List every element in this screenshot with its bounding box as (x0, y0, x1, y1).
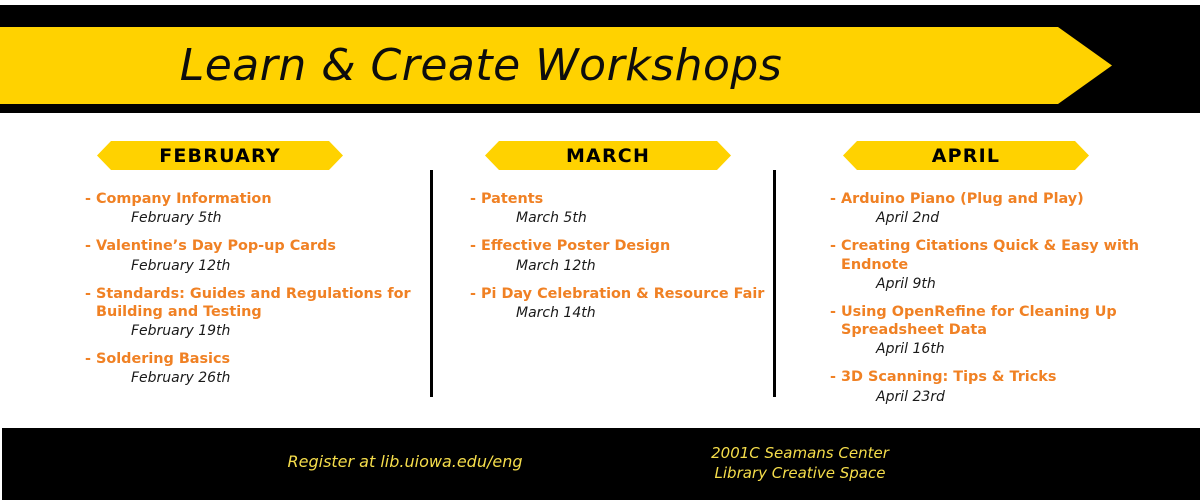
event-date: April 2nd (830, 210, 1140, 226)
event-date: March 14th (470, 305, 780, 321)
event-list-march: - Patents March 5th - Effective Poster D… (440, 190, 780, 321)
event-title: - Patents (470, 190, 780, 208)
list-item: - Standards: Guides and Regulations for … (85, 285, 415, 340)
page-title: Learn & Create Workshops (180, 40, 933, 91)
list-item: - Valentine’s Day Pop-up Cards February … (85, 237, 415, 273)
list-item: - Company Information February 5th (85, 190, 415, 226)
event-title: - Valentine’s Day Pop-up Cards (85, 237, 411, 255)
event-date: February 19th (85, 323, 415, 339)
event-date: April 23rd (830, 389, 1140, 405)
workshops-poster: Learn & Create Workshops FEBRUARY - Comp… (0, 0, 1200, 500)
event-title: - Using OpenRefine for Cleaning Up Sprea… (830, 303, 1140, 340)
list-item: - Creating Citations Quick & Easy with E… (830, 237, 1140, 292)
event-date: February 5th (85, 210, 415, 226)
month-label: FEBRUARY (159, 145, 281, 167)
location-text: 2001C Seamans Center Library Creative Sp… (680, 444, 920, 483)
column-divider-left (430, 170, 433, 397)
list-item: - Soldering Basics February 26th (85, 350, 415, 386)
list-item: - Pi Day Celebration & Resource Fair Mar… (470, 285, 780, 321)
event-title: - Pi Day Celebration & Resource Fair (470, 285, 780, 303)
month-columns: FEBRUARY - Company Information February … (0, 138, 1200, 423)
column-march: MARCH - Patents March 5th - Effective Po… (440, 138, 780, 332)
list-item: - 3D Scanning: Tips & Tricks April 23rd (830, 368, 1140, 404)
event-title: - 3D Scanning: Tips & Tricks (830, 368, 1140, 386)
event-date: February 12th (85, 258, 415, 274)
event-title: - Standards: Guides and Regulations for … (85, 285, 411, 322)
event-date: April 9th (830, 276, 1140, 292)
list-item: - Arduino Piano (Plug and Play) April 2n… (830, 190, 1140, 226)
event-title: - Arduino Piano (Plug and Play) (830, 190, 1140, 208)
title-band: Learn & Create Workshops (0, 5, 1200, 113)
event-date: March 5th (470, 210, 780, 226)
column-april: APRIL - Arduino Piano (Plug and Play) Ap… (800, 138, 1140, 416)
event-title: - Creating Citations Quick & Easy with E… (830, 237, 1140, 274)
event-list-april: - Arduino Piano (Plug and Play) April 2n… (800, 190, 1140, 405)
list-item: - Patents March 5th (470, 190, 780, 226)
month-banner-march: MARCH (485, 141, 731, 170)
location-line-2: Library Creative Space (680, 464, 920, 484)
month-label: MARCH (566, 145, 650, 167)
month-label: APRIL (932, 145, 1000, 167)
event-date: February 26th (85, 370, 415, 386)
location-line-1: 2001C Seamans Center (680, 444, 920, 464)
column-divider-right (773, 170, 776, 397)
event-title: - Soldering Basics (85, 350, 411, 368)
list-item: - Using OpenRefine for Cleaning Up Sprea… (830, 303, 1140, 358)
event-date: March 12th (470, 258, 780, 274)
title-arrow-banner: Learn & Create Workshops (0, 27, 1112, 104)
list-item: - Effective Poster Design March 12th (470, 237, 780, 273)
month-banner-february: FEBRUARY (97, 141, 343, 170)
event-title: - Effective Poster Design (470, 237, 780, 255)
column-february: FEBRUARY - Company Information February … (75, 138, 415, 397)
event-date: April 16th (830, 341, 1140, 357)
event-title: - Company Information (85, 190, 411, 208)
event-list-february: - Company Information February 5th - Val… (75, 190, 415, 386)
month-banner-april: APRIL (843, 141, 1089, 170)
